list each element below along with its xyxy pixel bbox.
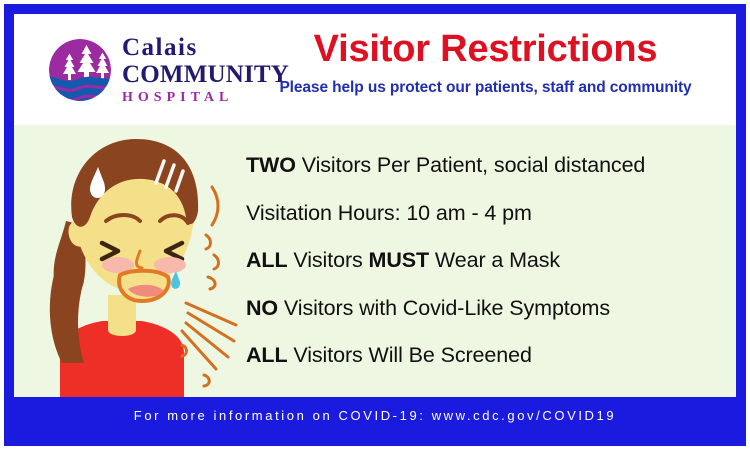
visitor-restrictions-poster: Calais COMMUNITY HOSPITAL Visitor Restri… [4,4,746,446]
rule-item: NO Visitors with Covid-Like Symptoms [246,298,726,320]
hospital-logo-icon [44,34,116,106]
rule-text: Visitors [288,248,369,272]
page-title: Visitor Restrictions [253,30,718,70]
rule-emphasis: MUST [369,248,430,272]
rules-list: TWO Visitors Per Patient, social distanc… [246,155,726,367]
rule-item: Visitation Hours: 10 am - 4 pm [246,203,726,225]
page-subtitle: Please help us protect our patients, sta… [253,79,718,97]
logo-name-line-3: HOSPITAL [122,91,272,105]
rule-text: Visitors with Covid-Like Symptoms [278,296,610,320]
hospital-logo: Calais COMMUNITY HOSPITAL [44,32,274,110]
poster-body: TWO Visitors Per Patient, social distanc… [14,125,736,397]
rule-item: ALL Visitors MUST Wear a Mask [246,250,726,272]
logo-name-line-1: Calais [122,35,272,60]
rule-emphasis: TWO [246,153,296,177]
title-block: Visitor Restrictions Please help us prot… [253,30,718,97]
rule-emphasis: ALL [246,343,288,367]
logo-name-line-2: COMMUNITY [122,62,272,87]
rule-item: TWO Visitors Per Patient, social distanc… [246,155,726,177]
sneezing-woman-illustration [36,125,246,397]
rule-text: Wear a Mask [429,248,560,272]
rule-emphasis: ALL [246,248,288,272]
poster-footer: For more information on COVID-19: www.cd… [14,397,736,436]
rule-emphasis: NO [246,296,278,320]
footer-info-text: For more information on COVID-19: www.cd… [14,408,736,423]
poster-inner: Calais COMMUNITY HOSPITAL Visitor Restri… [14,14,736,436]
rule-text: Visitors Per Patient, social distanced [296,153,645,177]
hospital-logo-wordmark: Calais COMMUNITY HOSPITAL [122,32,272,105]
rule-text: Visitation Hours: 10 am - 4 pm [246,201,532,225]
rule-item: ALL Visitors Will Be Screened [246,345,726,367]
rule-text: Visitors Will Be Screened [288,343,532,367]
poster-header: Calais COMMUNITY HOSPITAL Visitor Restri… [14,14,736,125]
